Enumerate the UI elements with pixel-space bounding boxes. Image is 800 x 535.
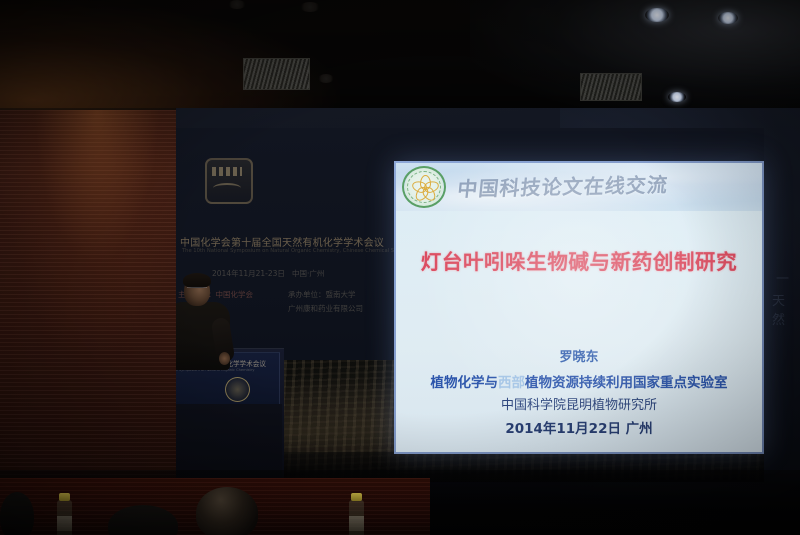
audience-head	[0, 492, 34, 535]
speaker-hair	[183, 273, 211, 288]
air-vent	[580, 73, 642, 101]
downlight-icon	[645, 8, 669, 22]
bottle-cap	[351, 493, 362, 501]
water-bottle	[57, 500, 72, 535]
backdrop-row-2-right: 广州康和药业有限公司	[288, 303, 363, 314]
university-round-logo-icon	[225, 377, 250, 402]
slide-affiliation-line1: 植物化学与西部植物资源持续利用国家重点实验室	[396, 371, 762, 391]
downlight-icon	[318, 74, 334, 83]
downlight-icon	[668, 92, 686, 102]
conference-presentation-photo: 一 天然 中国化学会第十届全国天然有机化学学术会议 The 10th Natio…	[0, 0, 800, 535]
affiliation-part-c: 植物资源持续利用国家重点实验室	[525, 375, 728, 391]
bottle-cap	[59, 493, 70, 501]
water-bottle	[349, 500, 364, 535]
institute-flower-emblem-icon	[402, 166, 446, 208]
slide-header-band: 中国科技论文在线交流	[396, 163, 762, 211]
backdrop-row-0-right: 中国·广州	[292, 268, 324, 279]
slide-title: 灯台叶吲哚生物碱与新药创制研究	[396, 245, 762, 275]
conference-emblem-icon	[205, 158, 253, 204]
air-vent	[243, 58, 310, 90]
wall-text-line1: 一	[776, 268, 791, 287]
downlight-icon	[718, 12, 738, 24]
slide-date-location: 2014年11月22日 广州	[396, 417, 762, 437]
backdrop-banner-subtitle: The 10th National Symposium on Natural O…	[182, 248, 397, 254]
left-wall-glow	[0, 110, 176, 350]
speaker-glasses-icon	[187, 287, 207, 293]
slide-author: 罗晓东	[396, 346, 762, 365]
wall-text-line2: 天然	[772, 290, 800, 328]
backdrop-row-0-left: 2014年11月21-23日	[212, 268, 285, 279]
backdrop-row-1-right: 承办单位：暨南大学	[288, 289, 356, 300]
affiliation-part-a: 植物化学与	[431, 375, 499, 391]
slide-affiliation-line2: 中国科学院昆明植物研究所	[396, 394, 762, 413]
bottle-label	[57, 516, 72, 531]
projection-screen: 中国科技论文在线交流 灯台叶吲哚生物碱与新药创制研究 罗晓东 植物化学与西部植物…	[396, 163, 762, 452]
backdrop-banner-title: 中国化学会第十届全国天然有机化学学术会议	[180, 234, 395, 249]
emblem-petals	[412, 175, 436, 197]
downlight-icon	[300, 2, 320, 12]
bottle-label	[349, 516, 364, 531]
audience-head	[196, 487, 258, 535]
speaker-hand	[219, 352, 230, 365]
downlight-icon	[228, 0, 246, 9]
affiliation-part-b: 西部	[498, 375, 525, 391]
